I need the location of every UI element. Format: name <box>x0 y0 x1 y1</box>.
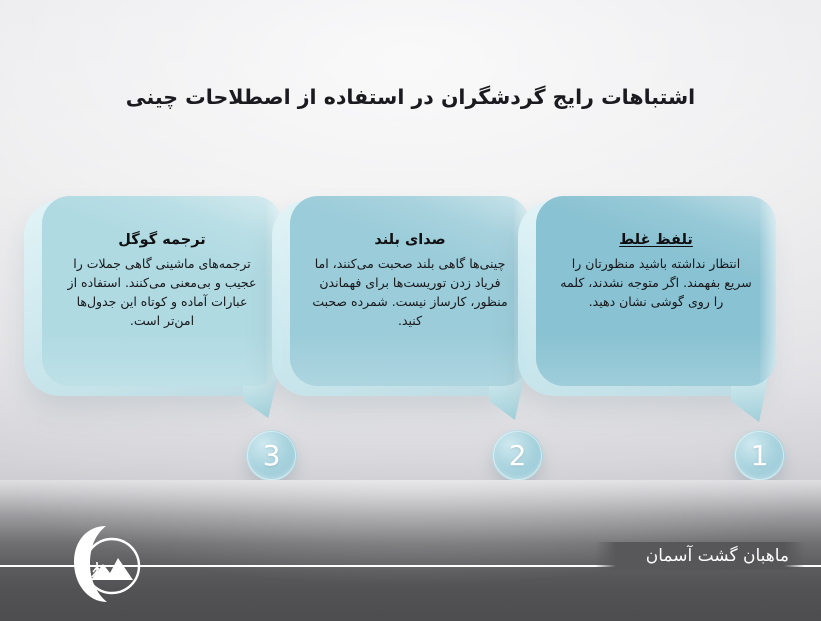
step-number-1: 1 <box>751 442 769 470</box>
step-number-3: 3 <box>263 442 281 470</box>
step-circle-1[interactable]: 1 <box>734 430 785 481</box>
step-number-2: 2 <box>509 442 527 470</box>
step-circle-2[interactable]: 2 <box>492 430 543 481</box>
card-2-title: صدای بلند <box>312 230 508 250</box>
card-2-body: چینی‌ها گاهی بلند صحبت می‌کنند، اما فریا… <box>312 254 508 330</box>
card-3-title: ترجمه گوگل <box>64 230 260 250</box>
step-circle-3[interactable]: 3 <box>246 430 297 481</box>
card-1-body: انتظار نداشته باشید منظورتان را سریع بفه… <box>558 254 754 311</box>
brand-logo <box>60 518 156 614</box>
card-3-content: ترجمه گوگل ترجمه‌های ماشینی گاهی جملات ر… <box>42 196 282 386</box>
card-2-content: صدای بلند چینی‌ها گاهی بلند صحبت می‌کنند… <box>290 196 530 386</box>
infographic-canvas: اشتباهات رایج گردشگران در استفاده از اصط… <box>0 0 821 621</box>
brand-name: ماهبان گشت آسمان <box>638 545 797 567</box>
card-1-content: تلفظ غلط انتظار نداشته باشید منظورتان را… <box>536 196 776 386</box>
card-1-title: تلفظ غلط <box>558 230 754 250</box>
card-3-body: ترجمه‌های ماشینی گاهی جملات را عجیب و بی… <box>64 254 260 330</box>
page-title: اشتباهات رایج گردشگران در استفاده از اصط… <box>0 82 821 112</box>
